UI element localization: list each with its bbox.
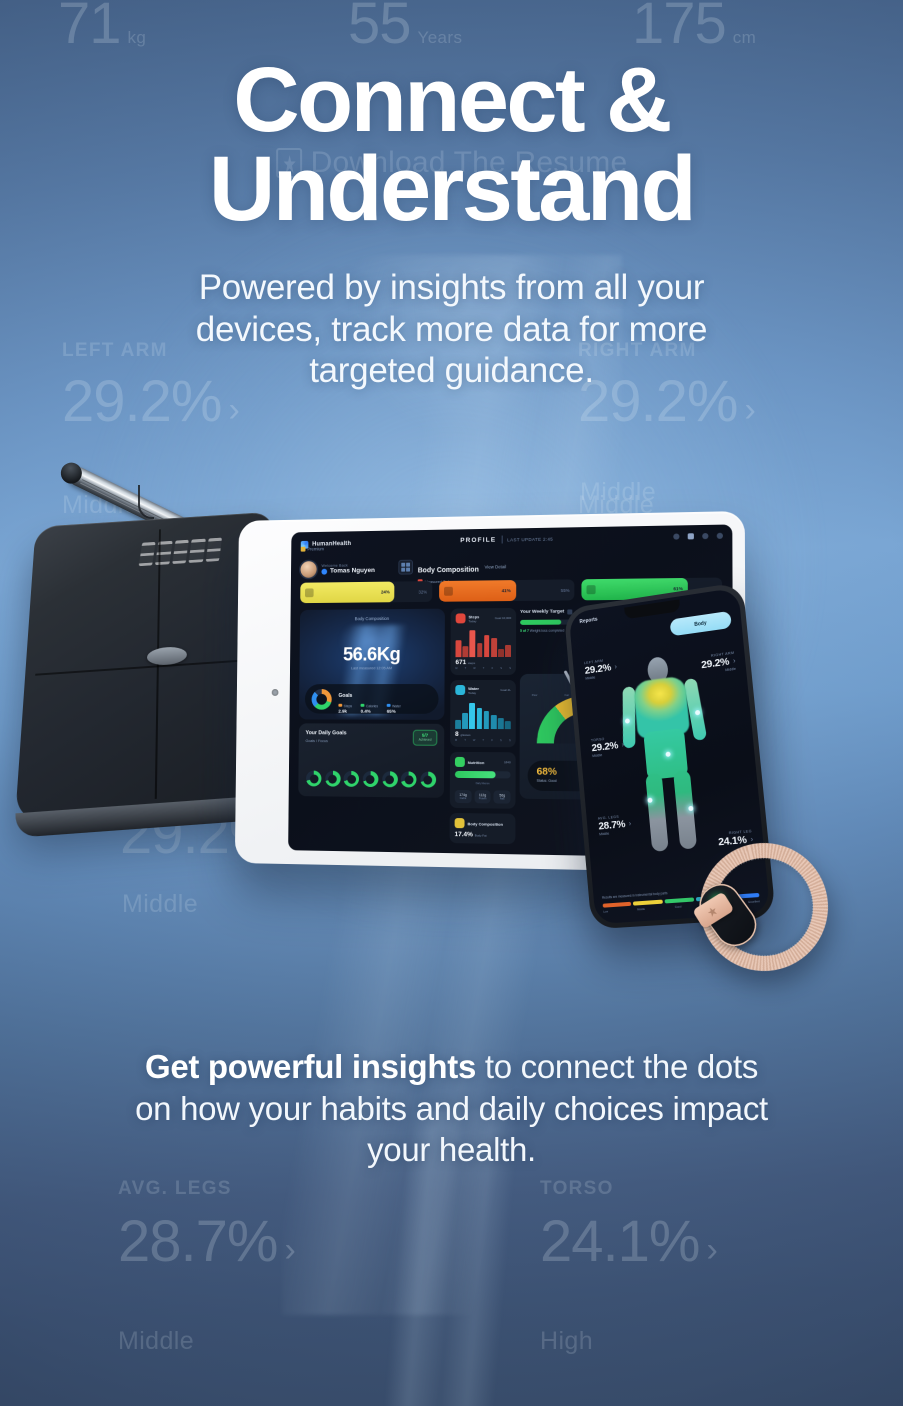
goals-strip[interactable]: Goals Steps2.9k Calories0.4% Water65%	[305, 684, 439, 714]
watermark-weight-unit: kg	[128, 28, 147, 48]
phone-notch	[624, 599, 680, 619]
weekly-target-title: Your Weekly Target	[520, 610, 564, 615]
bell-icon[interactable]	[702, 533, 708, 539]
body-tab-button[interactable]: Body	[670, 611, 732, 637]
gauge-tick-poor: Poor	[532, 694, 538, 697]
daily-dot[interactable]	[363, 771, 379, 787]
daily-goals-title: Your Daily Goals	[306, 730, 347, 736]
goal-calories-label: Calories	[366, 704, 378, 708]
hero-subtitle: Powered by insights from all your device…	[137, 267, 767, 391]
body-weight-card[interactable]: Body Composition 56.6Kg Last measured 12…	[299, 609, 445, 720]
goals-title: Goals	[338, 693, 352, 699]
hero-section: Connect & Understand Powered by insights…	[0, 56, 903, 391]
body-fat-title: Body Composition	[468, 821, 503, 827]
watermark-torso-value: 24.1%	[540, 1208, 699, 1275]
heatmap-right-leg	[673, 770, 697, 850]
watermark-height-unit: cm	[733, 28, 756, 48]
body-card-caption: Body Composition	[300, 616, 445, 622]
screen-page-title: PROFILE	[460, 536, 496, 544]
chevron-right-icon: ›	[744, 391, 756, 430]
body-weight-value: 56.6Kg	[300, 644, 445, 666]
steps-xaxis: MTWTFSS	[455, 667, 511, 670]
water-icon	[455, 685, 465, 695]
chevron-right-icon: ›	[614, 663, 617, 670]
nutrition-icon	[455, 757, 465, 767]
muscle-icon	[444, 587, 453, 596]
goals-ring-icon	[312, 689, 332, 710]
daily-goals-card[interactable]: Your Daily Goals Goals / Focus 5/7 Achie…	[298, 723, 444, 797]
steps-value-unit: steps	[468, 661, 475, 665]
chevron-right-icon: ›	[284, 1231, 296, 1270]
brand-subtitle-label: Premium	[307, 546, 324, 551]
topbar-icons[interactable]	[673, 533, 723, 540]
steps-card[interactable]: StepsToday Goal 10,000 671 steps MTWTFSS	[450, 608, 516, 675]
user-profile-row[interactable]: Welcome Back Tomas Nguyen	[300, 560, 375, 578]
macro-fats: 56gFats	[494, 790, 511, 803]
page-title-line1: Connect &	[233, 49, 670, 151]
goal-steps-value: 2.9k	[338, 709, 352, 714]
body-fat-label: Body Fat	[475, 833, 487, 837]
phone-stat-left-arm[interactable]: LEFT ARM 29.2%› Middle	[584, 657, 618, 681]
fat-target: 32%	[418, 589, 427, 594]
daily-goals-badge: 5/7 Achieved	[413, 730, 438, 746]
phone-screen-title: Reports	[579, 617, 598, 625]
watermark-torso-level: High	[540, 1327, 718, 1356]
brand-subtitle: Premium	[301, 546, 324, 551]
nutrition-calories: 1840	[504, 760, 511, 764]
water-value: 8	[455, 731, 459, 738]
body-fat-card[interactable]: Body Composition 17.4% Body Fat	[450, 813, 516, 844]
verified-icon	[321, 568, 327, 574]
steps-icon	[456, 613, 466, 623]
steps-title: Steps	[468, 614, 479, 619]
legend-good: Good	[675, 904, 682, 908]
page-title-line2: Understand	[209, 138, 694, 240]
chevron-right-icon: ›	[733, 657, 736, 664]
phone-avg-legs-value: 28.7%	[598, 818, 626, 832]
phone-stat-torso[interactable]: TORSO 29.2%› Middle	[591, 735, 625, 758]
macros-caption: Daily Macros	[476, 782, 490, 785]
phone-stat-right-arm[interactable]: RIGHT ARM 29.2%› Middle	[700, 651, 736, 675]
scale-led-display	[139, 538, 222, 567]
hydration-icon	[587, 585, 596, 594]
weekly-note-text: Weight-loss completed	[529, 629, 564, 633]
macro-protein: 112gProtein	[474, 790, 491, 803]
watermark-torso-label: TORSO	[540, 1178, 718, 1200]
macro-carbs: 174gCarbs	[455, 790, 472, 803]
footer-lead: Get powerful insights	[145, 1048, 476, 1085]
weekly-note-strong: 5 of 7	[520, 629, 529, 633]
menu-icon[interactable]	[717, 533, 723, 539]
daily-goals-subtitle: Goals / Focus	[305, 739, 327, 743]
watermark-stat-weight: 71 kg	[58, 0, 146, 57]
body-composition-title: Body Composition	[418, 567, 479, 575]
nutrition-progress	[455, 771, 511, 779]
watermark-card-torso: TORSO 24.1% › High	[540, 1178, 718, 1356]
water-title: Water	[468, 686, 479, 691]
fat-icon	[305, 588, 314, 597]
goal-water-label: Water	[392, 704, 401, 708]
body-heatmap	[618, 652, 715, 855]
water-xaxis: MTWTFSS	[455, 739, 511, 742]
goal-steps-label: Steps	[344, 704, 352, 708]
watermark-avg-legs-value: 28.7%	[118, 1208, 277, 1275]
view-detail-link[interactable]: View Detail	[485, 564, 507, 569]
nutrition-title: Nutrition	[468, 759, 485, 764]
user-name-row: Tomas Nguyen	[321, 567, 375, 575]
poster-canvas: 71 kg 55 Years 175 cm Download The Resum…	[0, 0, 903, 1406]
user-name: Tomas Nguyen	[330, 567, 375, 574]
goal-water-value: 65%	[387, 709, 401, 714]
watermark-weight-value: 71	[58, 0, 121, 57]
body-weight-subtext: Last measured 12:05 AM	[300, 666, 445, 670]
daily-dot[interactable]	[344, 771, 360, 787]
composition-pill-fat[interactable]: 24% 32%	[300, 581, 432, 603]
water-goal: Goal 2L	[500, 688, 511, 692]
daily-badge-label: Achieved	[414, 738, 437, 742]
page-title: Connect & Understand	[0, 56, 903, 234]
daily-dot[interactable]	[325, 771, 341, 787]
watermark-avg-legs-level: Middle	[118, 1327, 296, 1356]
macro-protein-label: Protein	[474, 797, 491, 800]
macros-row: 174gCarbs 112gProtein 56gFats	[455, 790, 511, 804]
watermark-avg-legs-label: AVG. LEGS	[118, 1178, 296, 1200]
water-sub: Today	[468, 691, 479, 695]
footer-copy: Get powerful insights to connect the dot…	[0, 1046, 903, 1171]
gauge-tick-fair: Fair	[565, 694, 570, 697]
device-group: HumanHealth Premium PROFILE LAST UPDATE …	[0, 455, 903, 995]
heatmap-left-leg	[645, 773, 669, 852]
fat-value: 24%	[381, 589, 390, 594]
body-fat-value: 17.4%	[455, 831, 473, 838]
health-score-status: Status: Good	[537, 780, 557, 784]
macro-fats-label: Fats	[494, 797, 511, 800]
tablet-camera	[272, 689, 279, 696]
grid-icon[interactable]	[688, 533, 694, 539]
water-value-unit: glasses	[460, 733, 470, 737]
steps-sub: Today	[468, 619, 479, 623]
chevron-right-icon: ›	[228, 391, 240, 430]
page-header: PROFILE LAST UPDATE 2:45	[460, 535, 553, 545]
chevron-right-icon: ›	[706, 1231, 718, 1270]
body-composition-icon	[398, 560, 413, 575]
legend-low: Low	[603, 909, 608, 913]
nutrition-card[interactable]: Nutrition 1840 Daily Macros 174gCarbs 11…	[450, 752, 516, 809]
chevron-right-icon: ›	[629, 820, 632, 827]
macro-carbs-label: Carbs	[455, 797, 472, 800]
phone-stat-avg-legs[interactable]: AVG. LEGS 28.7%› Middle	[598, 814, 632, 837]
daily-dot[interactable]	[420, 772, 436, 788]
steps-value: 671	[455, 659, 466, 666]
steps-goal: Goal 10,000	[495, 616, 511, 620]
water-bar-chart	[455, 699, 511, 729]
watermark-card-avg-legs: AVG. LEGS 28.7% › Middle	[118, 1178, 296, 1356]
divider	[501, 536, 502, 544]
composition-pill-muscle[interactable]: 41% 55%	[439, 579, 575, 601]
steps-bar-chart	[455, 627, 511, 657]
legend-middle: Middle	[637, 907, 645, 912]
avatar	[300, 561, 316, 578]
health-score-percent: 68%	[537, 767, 557, 778]
chevron-right-icon: ›	[750, 836, 753, 843]
watermark-age-unit: Years	[418, 28, 463, 48]
daily-goal-dots	[306, 771, 436, 788]
muscle-target: 55%	[561, 587, 570, 592]
body-fat-icon	[455, 818, 465, 828]
daily-dot[interactable]	[306, 771, 321, 787]
water-card[interactable]: WaterToday Goal 2L 8 glasses MTWTFSS	[450, 680, 516, 747]
daily-dot[interactable]	[382, 771, 398, 787]
scale-cord	[138, 485, 154, 519]
last-update-label: LAST UPDATE 2:45	[507, 536, 553, 542]
mini-cards-column: StepsToday Goal 10,000 671 steps MTWTFSS	[450, 608, 517, 849]
daily-dot[interactable]	[401, 771, 417, 787]
goal-calories-value: 0.4%	[361, 709, 378, 714]
premium-badge-icon	[301, 547, 306, 552]
muscle-value: 41%	[502, 588, 511, 593]
search-icon[interactable]	[673, 533, 679, 539]
